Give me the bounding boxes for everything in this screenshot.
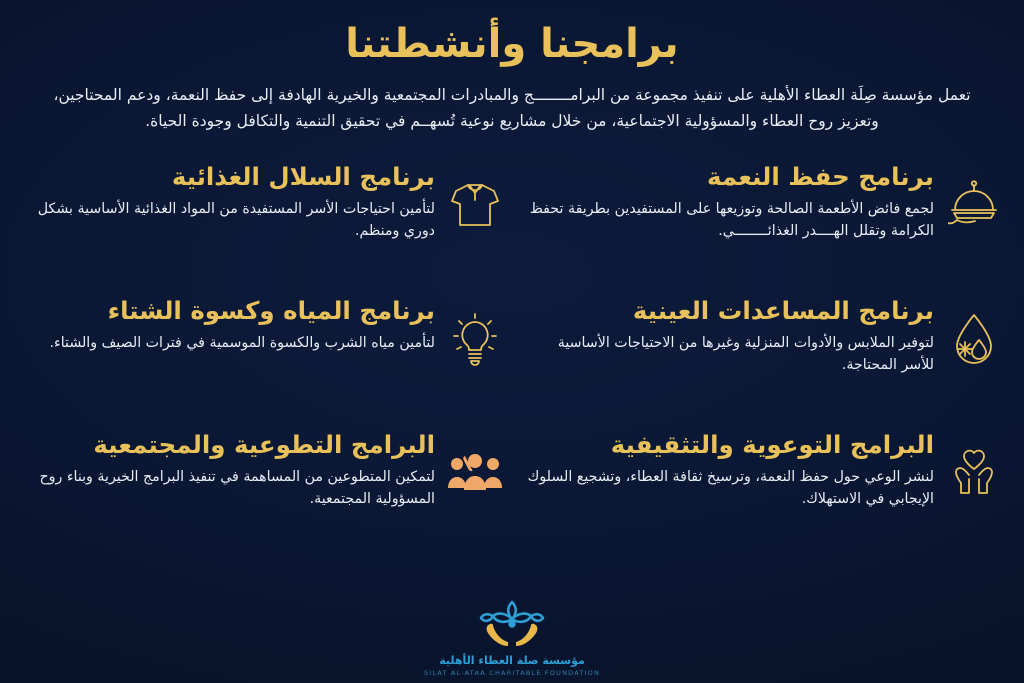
- program-card-text: برنامج المياه وكسوة الشتاء لتأمين مياه ا…: [22, 294, 435, 354]
- people-group-icon: [447, 442, 503, 504]
- water-drop-icon: [946, 308, 1002, 370]
- program-description: لتمكين المتطوعين من المساهمة في تنفيذ ال…: [22, 466, 435, 511]
- program-card-food-preservation[interactable]: برنامج حفظ النعمة لجمع فائض الأطعمة الصا…: [521, 160, 1002, 278]
- program-card-volunteer[interactable]: البرامج التطوعية والمجتمعية لتمكين المتط…: [22, 428, 503, 546]
- heart-in-hands-icon: [946, 442, 1002, 504]
- program-title: البرامج التوعوية والتثقيفية: [521, 430, 934, 461]
- program-description: لتوفير الملابس والأدوات المنزلية وغيرها …: [521, 332, 934, 377]
- program-card-awareness[interactable]: البرامج التوعوية والتثقيفية لنشر الوعي ح…: [521, 428, 1002, 546]
- food-cloche-icon: [946, 174, 1002, 236]
- program-description: لتأمين احتياجات الأسر المستفيدة من الموا…: [22, 198, 435, 243]
- program-description: لنشر الوعي حول حفظ النعمة، وترسيخ ثقافة …: [521, 466, 934, 511]
- lightbulb-icon: [447, 308, 503, 370]
- program-title: برنامج المياه وكسوة الشتاء: [22, 296, 435, 327]
- infographic-poster: برامجنا وأنشطتنا تعمل مؤسسة صِلَة العطاء…: [0, 0, 1024, 683]
- program-card-text: البرامج التطوعية والمجتمعية لتمكين المتط…: [22, 428, 435, 511]
- program-card-in-kind-aid[interactable]: برنامج المساعدات العينية لتوفير الملابس …: [521, 294, 1002, 412]
- program-card-text: برنامج المساعدات العينية لتوفير الملابس …: [521, 294, 934, 377]
- program-title: برنامج المساعدات العينية: [521, 296, 934, 327]
- program-title: برنامج حفظ النعمة: [521, 162, 934, 193]
- foundation-logo: مؤسسة صلة العطاء الأهلية Silat Al-Ataa C…: [0, 596, 1024, 677]
- program-title: برنامج السلال الغذائية: [22, 162, 435, 193]
- lotus-in-hands-icon: [466, 596, 558, 652]
- poster-header: برامجنا وأنشطتنا تعمل مؤسسة صِلَة العطاء…: [0, 0, 1024, 134]
- program-title: البرامج التطوعية والمجتمعية: [22, 430, 435, 461]
- page-title: برامجنا وأنشطتنا: [0, 20, 1024, 68]
- programs-grid: برنامج حفظ النعمة لجمع فائض الأطعمة الصا…: [0, 160, 1024, 546]
- program-card-food-baskets[interactable]: برنامج السلال الغذائية لتأمين احتياجات ا…: [22, 160, 503, 278]
- program-description: لجمع فائض الأطعمة الصالحة وتوزيعها على ا…: [521, 198, 934, 243]
- program-card-text: برنامج السلال الغذائية لتأمين احتياجات ا…: [22, 160, 435, 243]
- intro-paragraph: تعمل مؤسسة صِلَة العطاء الأهلية على تنفي…: [47, 82, 977, 134]
- program-card-water-winter[interactable]: برنامج المياه وكسوة الشتاء لتأمين مياه ا…: [22, 294, 503, 412]
- program-card-text: البرامج التوعوية والتثقيفية لنشر الوعي ح…: [521, 428, 934, 511]
- logo-english-name: Silat Al-Ataa Charitable Foundation: [424, 669, 600, 677]
- logo-arabic-name: مؤسسة صلة العطاء الأهلية: [439, 654, 585, 667]
- program-card-text: برنامج حفظ النعمة لجمع فائض الأطعمة الصا…: [521, 160, 934, 243]
- program-description: لتأمين مياه الشرب والكسوة الموسمية في فت…: [22, 332, 435, 354]
- tshirt-icon: [447, 174, 503, 236]
